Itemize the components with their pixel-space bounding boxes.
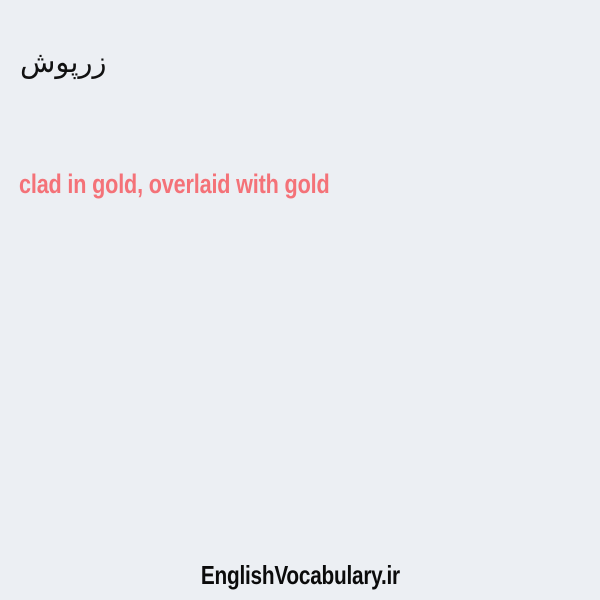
site-brand[interactable]: EnglishVocabulary.ir — [200, 560, 399, 590]
page-root: زرپوش clad in gold, overlaid with gold E… — [0, 0, 600, 600]
persian-headword: زرپوش — [20, 42, 106, 82]
footer: EnglishVocabulary.ir — [0, 560, 600, 590]
english-meaning: clad in gold, overlaid with gold — [19, 166, 330, 202]
